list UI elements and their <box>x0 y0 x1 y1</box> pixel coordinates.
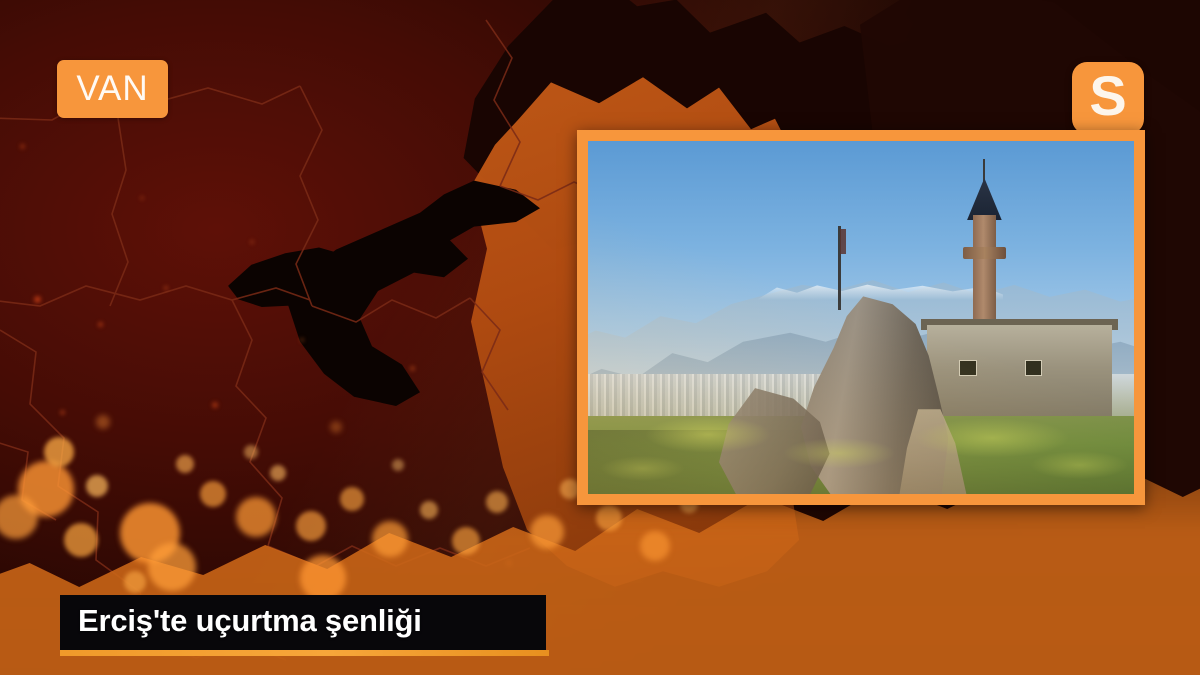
photo-van-castle-landscape <box>588 141 1134 494</box>
province-badge-label: VAN <box>76 71 148 108</box>
photo-warm-light-overlay <box>588 141 1134 494</box>
brand-logo[interactable]: S <box>1072 62 1144 134</box>
brand-logo-letter: S <box>1089 68 1126 128</box>
province-badge-van[interactable]: VAN <box>57 60 168 118</box>
headline-block: Erciş'te uçurtma şenliği <box>60 595 546 656</box>
photo-frame[interactable] <box>577 130 1145 505</box>
headline-underline <box>60 650 549 656</box>
news-card-canvas: VAN S <box>0 0 1200 675</box>
headline-bar[interactable]: Erciş'te uçurtma şenliği <box>60 595 546 650</box>
headline-text: Erciş'te uçurtma şenliği <box>78 603 422 638</box>
